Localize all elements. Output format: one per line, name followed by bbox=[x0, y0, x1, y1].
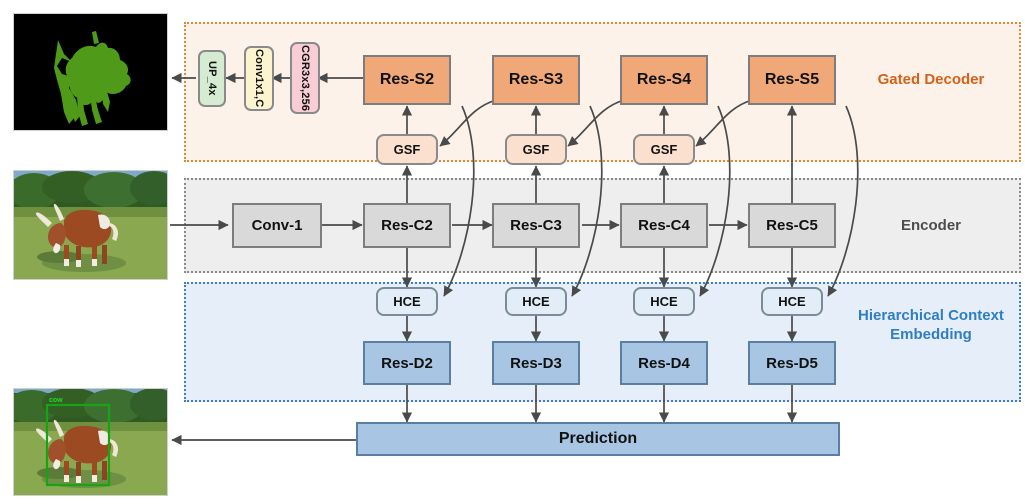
region-label-encoder: Encoder bbox=[845, 216, 1017, 235]
block-res-c5: Res-C5 bbox=[748, 203, 836, 248]
architecture-diagram: cow bbox=[0, 0, 1025, 504]
block-res-s5: Res-S5 bbox=[748, 55, 836, 105]
region-label-hierarchical-context-embedding: Hierarchical Context Embedding bbox=[841, 306, 1021, 344]
block-gsf-1: GSF bbox=[376, 134, 438, 165]
block-res-s3: Res-S3 bbox=[492, 55, 580, 105]
block-hce-3: HCE bbox=[633, 287, 695, 316]
block-conv-1: Conv-1 bbox=[232, 203, 322, 248]
block-res-d2: Res-D2 bbox=[363, 341, 451, 385]
region-label-gated-decoder: Gated Decoder bbox=[845, 70, 1017, 89]
block-res-c4: Res-C4 bbox=[620, 203, 708, 248]
block-prediction: Prediction bbox=[356, 422, 840, 456]
block-conv-1x1: Conv 1x1,C bbox=[244, 46, 274, 111]
block-up-4x: UP_4x bbox=[198, 50, 226, 107]
block-gsf-2: GSF bbox=[505, 134, 567, 165]
input-image-cow-in-field bbox=[13, 170, 168, 280]
block-res-d3: Res-D3 bbox=[492, 341, 580, 385]
block-cgr-line1: CGR bbox=[299, 45, 311, 70]
detection-class-label: cow bbox=[49, 397, 63, 404]
block-res-c2: Res-C2 bbox=[363, 203, 451, 248]
block-res-d4: Res-D4 bbox=[620, 341, 708, 385]
segmentation-mask-output bbox=[13, 13, 168, 131]
block-cgr-line2: 3x3,256 bbox=[299, 70, 311, 111]
block-res-s2: Res-S2 bbox=[363, 55, 451, 105]
block-cgr-3x3-256: CGR 3x3,256 bbox=[290, 42, 320, 114]
block-res-s4: Res-S4 bbox=[620, 55, 708, 105]
block-gsf-3: GSF bbox=[633, 134, 695, 165]
block-conv-line1: Conv bbox=[253, 49, 265, 77]
block-hce-1: HCE bbox=[376, 287, 438, 316]
block-conv-line2: 1x1,C bbox=[253, 77, 265, 107]
block-hce-4: HCE bbox=[761, 287, 823, 316]
block-hce-2: HCE bbox=[505, 287, 567, 316]
block-res-d5: Res-D5 bbox=[748, 341, 836, 385]
detection-output-bounding-box: cow bbox=[13, 388, 168, 496]
block-res-c3: Res-C3 bbox=[492, 203, 580, 248]
